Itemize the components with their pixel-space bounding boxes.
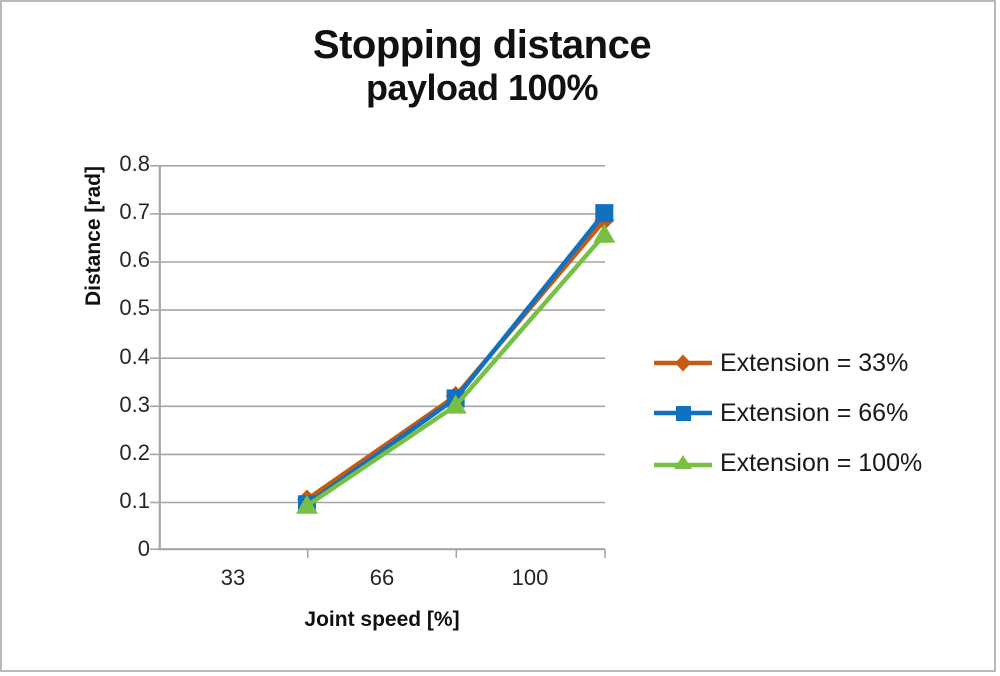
legend-label: Extension = 100% [720, 449, 922, 478]
legend-label: Extension = 66% [720, 399, 908, 428]
legend-item-extension-66[interactable]: Extension = 66% [654, 388, 984, 438]
y-tick-label: 0.6 [80, 249, 150, 271]
x-tick-label: 100 [480, 565, 580, 591]
chart-title: Stopping distance payload 100% [2, 24, 962, 109]
x-tick-label: 33 [183, 565, 283, 591]
y-tick-label: 0.2 [80, 442, 150, 464]
y-tick-label: 0.8 [80, 153, 150, 175]
plot-area [159, 165, 605, 550]
plot-svg [159, 165, 605, 550]
chart-container: Stopping distance payload 100% Distance … [0, 0, 996, 672]
chart-subtitle: payload 100% [2, 67, 962, 108]
y-tick-label: 0.7 [80, 201, 150, 223]
y-tick-label: 0 [80, 538, 150, 560]
x-axis-title: Joint speed [%] [159, 608, 605, 632]
diamond-marker-icon [654, 352, 712, 374]
triangle-marker-icon [654, 452, 712, 474]
legend-label: Extension = 33% [720, 349, 908, 378]
y-tick-label: 0.3 [80, 394, 150, 416]
square-marker-icon [654, 402, 712, 424]
y-tick-label: 0.4 [80, 346, 150, 368]
chart-legend: Extension = 33% Extension = 66% Extensio… [654, 338, 984, 488]
y-tick-label: 0.5 [80, 297, 150, 319]
x-tick-label: 66 [332, 565, 432, 591]
square-marker-icon [595, 204, 613, 222]
x-axis-ticks [308, 549, 605, 558]
series-line [297, 210, 614, 509]
chart-title-line1: Stopping distance [2, 24, 962, 67]
y-axis-ticks [150, 166, 159, 549]
legend-item-extension-33[interactable]: Extension = 33% [654, 338, 984, 388]
y-tick-label: 0.1 [80, 490, 150, 512]
legend-item-extension-100[interactable]: Extension = 100% [654, 438, 984, 488]
y-axis-tick-labels: 0.8 0.7 0.6 0.5 0.4 0.3 0.2 0.1 0 [68, 165, 150, 550]
x-axis-tick-labels: 33 66 100 [159, 565, 605, 599]
